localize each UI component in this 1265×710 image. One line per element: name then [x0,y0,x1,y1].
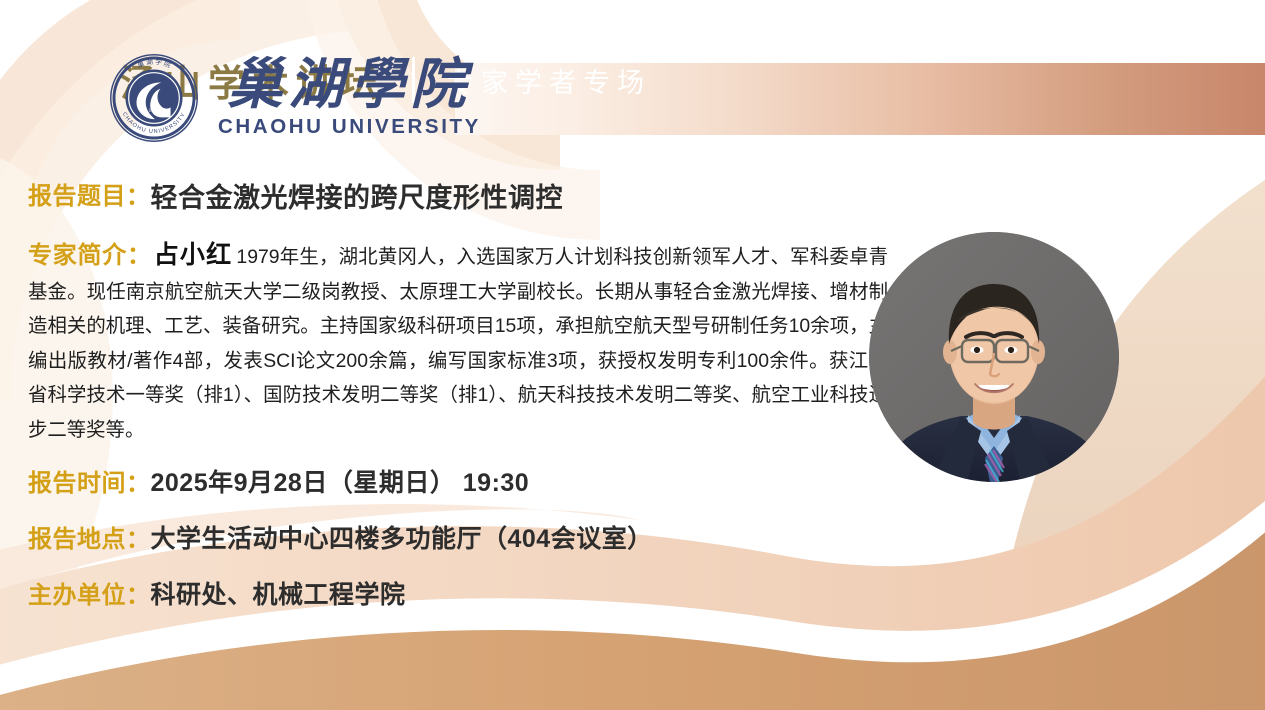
lecture-poster: 汤山学术讲坛 专家学者专场 1977 巢 湖 学 院 CHAOH [0,0,1265,710]
speaker-bio-text: 1979年生，湖北黄冈人，入选国家万人计划科技创新领军人才、军科委卓青基金。现任… [28,246,888,441]
university-logo-block: 1977 巢 湖 学 院 CHAOHU UNIVERSITY 巢湖學院 CHAO… [108,52,481,144]
logo-wordmark: 巢湖學院 CHAOHU UNIVERSITY [218,52,481,139]
field-row-bio: 专家简介：占小红1979年生，湖北黄冈人，入选国家万人计划科技创新领军人才、军科… [28,238,888,447]
speaker-bio-paragraph: 专家简介：占小红1979年生，湖北黄冈人，入选国家万人计划科技创新领军人才、军科… [28,238,888,447]
poster-header: 汤山学术讲坛 专家学者专场 1977 巢 湖 学 院 CHAOH [0,0,1265,160]
field-row-title: 报告题目： 轻合金激光焊接的跨尺度形性调控 [28,176,563,215]
field-row-time: 报告时间： 2025年9月28日（星期日） 19:30 [28,463,529,499]
value-host-organization: 科研处、机械工程学院 [151,575,406,611]
value-report-time: 2025年9月28日（星期日） 19:30 [151,463,530,499]
svg-text:1977: 1977 [148,108,159,114]
label-report-time: 报告时间： [28,463,151,498]
logo-wordmark-english: CHAOHU UNIVERSITY [218,115,481,139]
university-seal-icon: 1977 巢 湖 学 院 CHAOHU UNIVERSITY [108,52,200,144]
label-report-title: 报告题目： [28,176,151,211]
label-report-place: 报告地点： [28,519,151,554]
field-row-host: 主办单位： 科研处、机械工程学院 [28,575,406,611]
value-report-title: 轻合金激光焊接的跨尺度形性调控 [151,176,564,215]
label-speaker-bio: 专家简介： [28,242,152,269]
speaker-name: 占小红 [152,241,237,269]
value-report-place: 大学生活动中心四楼多功能厅（404会议室） [151,519,653,555]
logo-wordmark-chinese: 巢湖學院 [227,56,471,113]
field-row-place: 报告地点： 大学生活动中心四楼多功能厅（404会议室） [28,519,653,555]
portrait-illustration [869,232,1119,482]
speaker-portrait [869,232,1119,482]
label-host-organization: 主办单位： [28,575,151,610]
